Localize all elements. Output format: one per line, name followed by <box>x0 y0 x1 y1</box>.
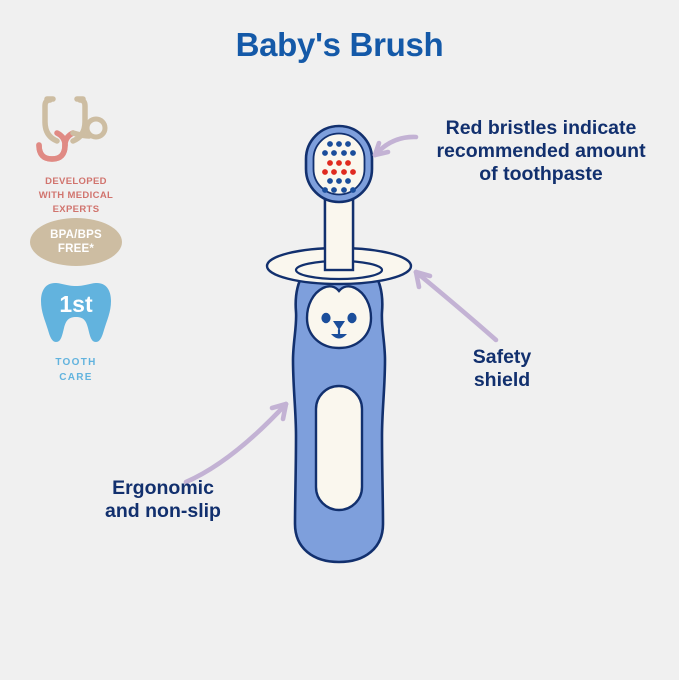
badge-tooth-caption-line2: CARE <box>26 371 126 386</box>
badge-medical-caption-line2: WITH MEDICAL <box>16 189 136 203</box>
callout-ergonomic-non-slip: Ergonomic and non-slip <box>48 477 278 523</box>
bpa-badge-text: BPA/BPS FREE* <box>50 228 102 256</box>
bpa-oval-shape: BPA/BPS FREE* <box>30 218 122 266</box>
arrow-to-handle-icon <box>186 404 286 482</box>
badge-medical-caption-line1: DEVELOPED <box>16 175 136 189</box>
callout-red-bristles-line3: of toothpaste <box>408 163 674 186</box>
bpa-badge-line1: BPA/BPS <box>50 228 102 242</box>
badge-developed-with-medical-experts: DEVELOPED WITH MEDICAL EXPERTS <box>16 92 136 216</box>
callout-safety-shield-line2: shield <box>432 369 572 392</box>
safety-shield-inner-hole <box>296 261 382 279</box>
callout-safety-shield: Safety shield <box>432 346 572 392</box>
callout-ergonomic-line1: Ergonomic <box>48 477 278 500</box>
tooth-icon-label: 1st <box>59 291 93 317</box>
badge-tooth-caption: TOOTH CARE <box>26 356 126 385</box>
red-bristles <box>322 160 356 175</box>
brush-head <box>306 126 372 202</box>
bpa-badge-line2: FREE* <box>50 242 102 256</box>
sloth-face <box>307 286 371 348</box>
brush-head-bristle-field <box>314 134 365 195</box>
blue-bristles <box>322 141 356 193</box>
sloth-mouth <box>331 334 347 339</box>
grip-pad <box>316 386 362 510</box>
badge-medical-caption-line3: EXPERTS <box>16 203 136 217</box>
badge-medical-caption: DEVELOPED WITH MEDICAL EXPERTS <box>16 175 136 216</box>
tooth-icon: 1st <box>26 282 126 344</box>
sloth-left-eye <box>321 313 330 323</box>
brush-handle <box>293 274 385 562</box>
page-title: Baby's Brush <box>0 26 679 64</box>
sloth-right-eye <box>347 313 356 323</box>
arrow-to-safety-shield-icon <box>416 272 496 340</box>
callout-red-bristles-line1: Red bristles indicate <box>408 117 674 140</box>
callout-safety-shield-line1: Safety <box>432 346 572 369</box>
brush-neck <box>325 186 353 278</box>
callout-red-bristles: Red bristles indicate recommended amount… <box>408 117 674 186</box>
callout-ergonomic-line2: and non-slip <box>48 500 278 523</box>
product-infographic: Baby's Brush DEVELOPED WITH MEDICAL EXPE… <box>0 0 679 680</box>
callout-red-bristles-line2: recommended amount <box>408 140 674 163</box>
stethoscope-icon <box>16 92 136 164</box>
badge-first-tooth-care: 1st TOOTH CARE <box>26 282 126 385</box>
brush-neck-upper <box>325 186 353 270</box>
sloth-nose <box>333 321 345 330</box>
badge-bpa-bps-free: BPA/BPS FREE* <box>26 218 126 266</box>
safety-shield <box>267 248 411 284</box>
badge-tooth-caption-line1: TOOTH <box>26 356 126 371</box>
